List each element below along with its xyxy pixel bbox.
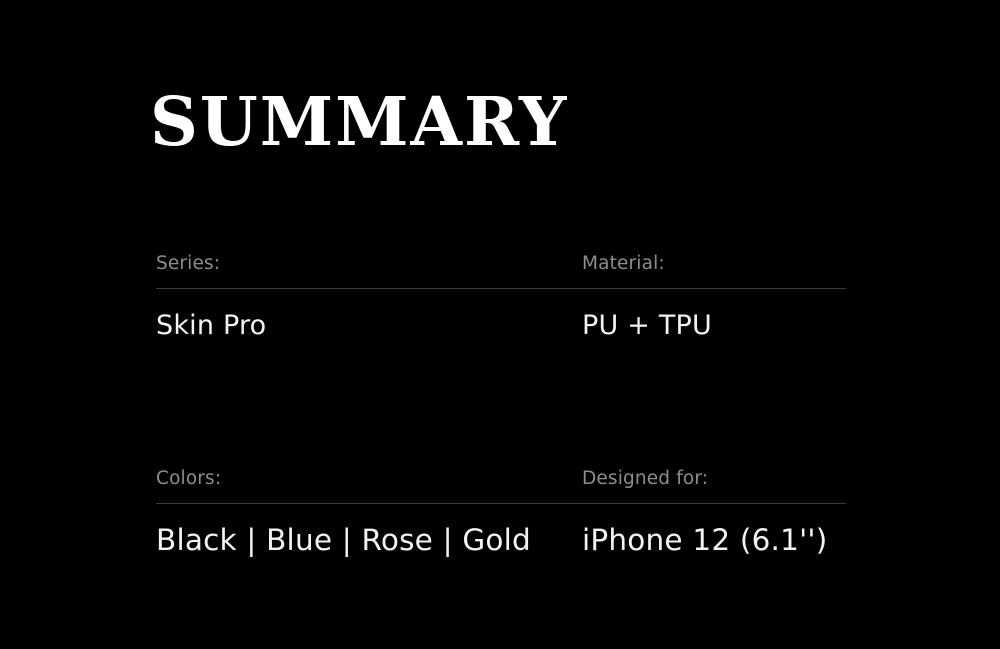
page-title-container: SUMMARY bbox=[150, 88, 850, 155]
spec-group-2: Colors: Designed for: Black | Blue | Ros… bbox=[156, 467, 846, 566]
spec-value-material: PU + TPU bbox=[582, 306, 712, 346]
spec-value-series: Skin Pro bbox=[156, 306, 266, 346]
spec-label-colors: Colors: bbox=[156, 467, 221, 491]
spec-label-row-1: Series: Material: bbox=[156, 252, 846, 289]
summary-slide: SUMMARY Series: Material: Skin Pro PU + … bbox=[0, 0, 1000, 649]
spec-label-series: Series: bbox=[156, 252, 220, 276]
spec-label-designed-for: Designed for: bbox=[582, 467, 708, 491]
spec-value-row-1: Skin Pro PU + TPU bbox=[156, 306, 846, 352]
spec-label-material: Material: bbox=[582, 252, 665, 276]
spec-value-designed-for: iPhone 12 (6.1'') bbox=[582, 520, 827, 560]
page-title: SUMMARY bbox=[150, 88, 843, 155]
specification-grid: Series: Material: Skin Pro PU + TPU Colo… bbox=[156, 252, 846, 566]
spec-label-row-2: Colors: Designed for: bbox=[156, 467, 846, 504]
spec-value-row-2: Black | Blue | Rose | Gold iPhone 12 (6.… bbox=[156, 520, 846, 566]
spec-group-1: Series: Material: Skin Pro PU + TPU bbox=[156, 252, 846, 352]
spec-value-colors: Black | Blue | Rose | Gold bbox=[156, 520, 531, 560]
